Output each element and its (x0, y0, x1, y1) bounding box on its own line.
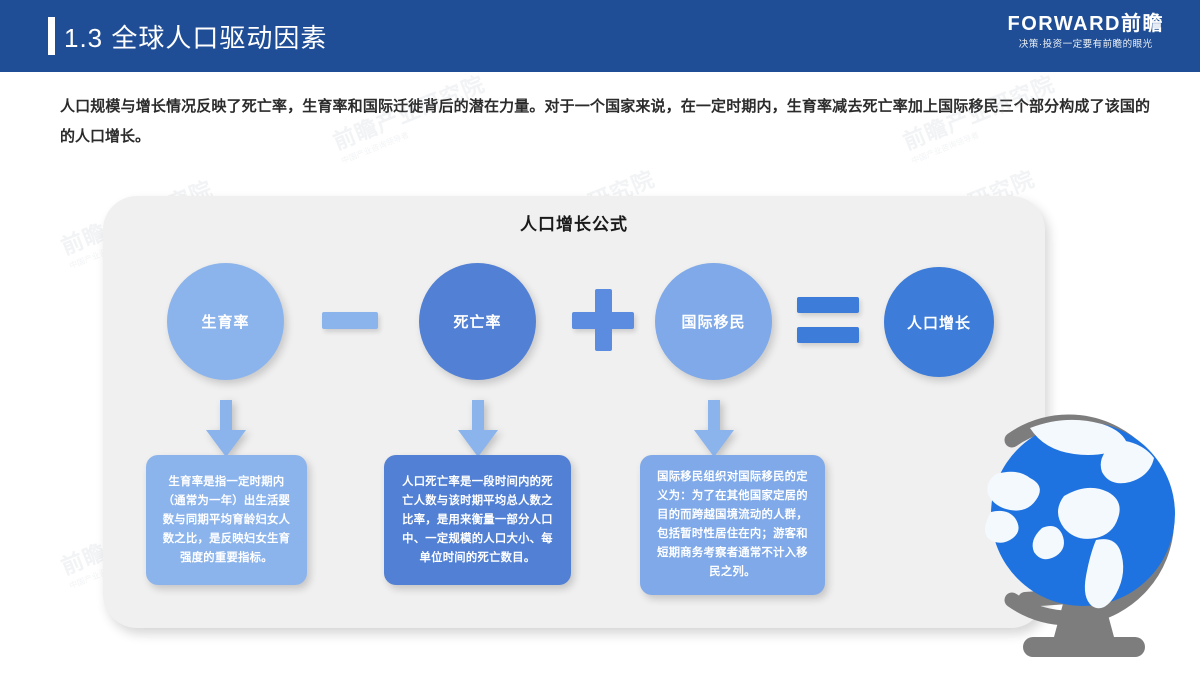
node-mortality-rate[interactable]: 死亡率 (419, 263, 536, 380)
description-box-mortality: 人口死亡率是一段时间内的死亡人数与该时期平均总人数之比率，是用来衡量一部分人口中… (384, 455, 571, 585)
node-label: 死亡率 (453, 311, 501, 332)
description-text: 国际移民组织对国际移民的定义为：为了在其他国家定居的目的而跨越国境流动的人群，包… (653, 468, 812, 582)
logo-wordmark: FORWARD前瞻 (1008, 12, 1164, 36)
slide-header: 1.3 全球人口驱动因素 FORWARD前瞻 决策·投资一定要有前瞻的眼光 (0, 0, 1200, 72)
title-accent-bar (48, 17, 55, 55)
panel-title: 人口增长公式 (103, 210, 1045, 235)
description-text: 生育率是指一定时期内（通常为一年）出生活婴数与同期平均育龄妇女人数之比，是反映妇… (159, 473, 294, 568)
description-box-migration: 国际移民组织对国际移民的定义为：为了在其他国家定居的目的而跨越国境流动的人群，包… (640, 455, 825, 595)
arrow-down-icon (693, 400, 735, 458)
arrow-down-icon (457, 400, 499, 458)
intro-paragraph: 人口规模与增长情况反映了死亡率，生育率和国际迁徙背后的潜在力量。对于一个国家来说… (60, 92, 1150, 152)
slide: 1.3 全球人口驱动因素 FORWARD前瞻 决策·投资一定要有前瞻的眼光 人口… (0, 0, 1200, 675)
minus-icon (322, 312, 378, 329)
equals-icon (797, 297, 859, 343)
node-international-migration[interactable]: 国际移民 (655, 263, 772, 380)
description-text: 人口死亡率是一段时间内的死亡人数与该时期平均总人数之比率，是用来衡量一部分人口中… (397, 473, 558, 568)
brand-logo: FORWARD前瞻 决策·投资一定要有前瞻的眼光 (1008, 12, 1164, 52)
node-label: 人口增长 (907, 312, 971, 333)
arrow-down-icon (205, 400, 247, 458)
page-title: 1.3 全球人口驱动因素 (64, 18, 327, 55)
plus-icon (572, 289, 634, 351)
node-label: 国际移民 (681, 311, 745, 332)
node-population-growth[interactable]: 人口增长 (884, 267, 994, 377)
globe-illustration (968, 404, 1200, 666)
node-label: 生育率 (201, 311, 249, 332)
node-fertility-rate[interactable]: 生育率 (167, 263, 284, 380)
description-box-fertility: 生育率是指一定时期内（通常为一年）出生活婴数与同期平均育龄妇女人数之比，是反映妇… (146, 455, 307, 585)
logo-tagline: 决策·投资一定要有前瞻的眼光 (1008, 38, 1164, 52)
